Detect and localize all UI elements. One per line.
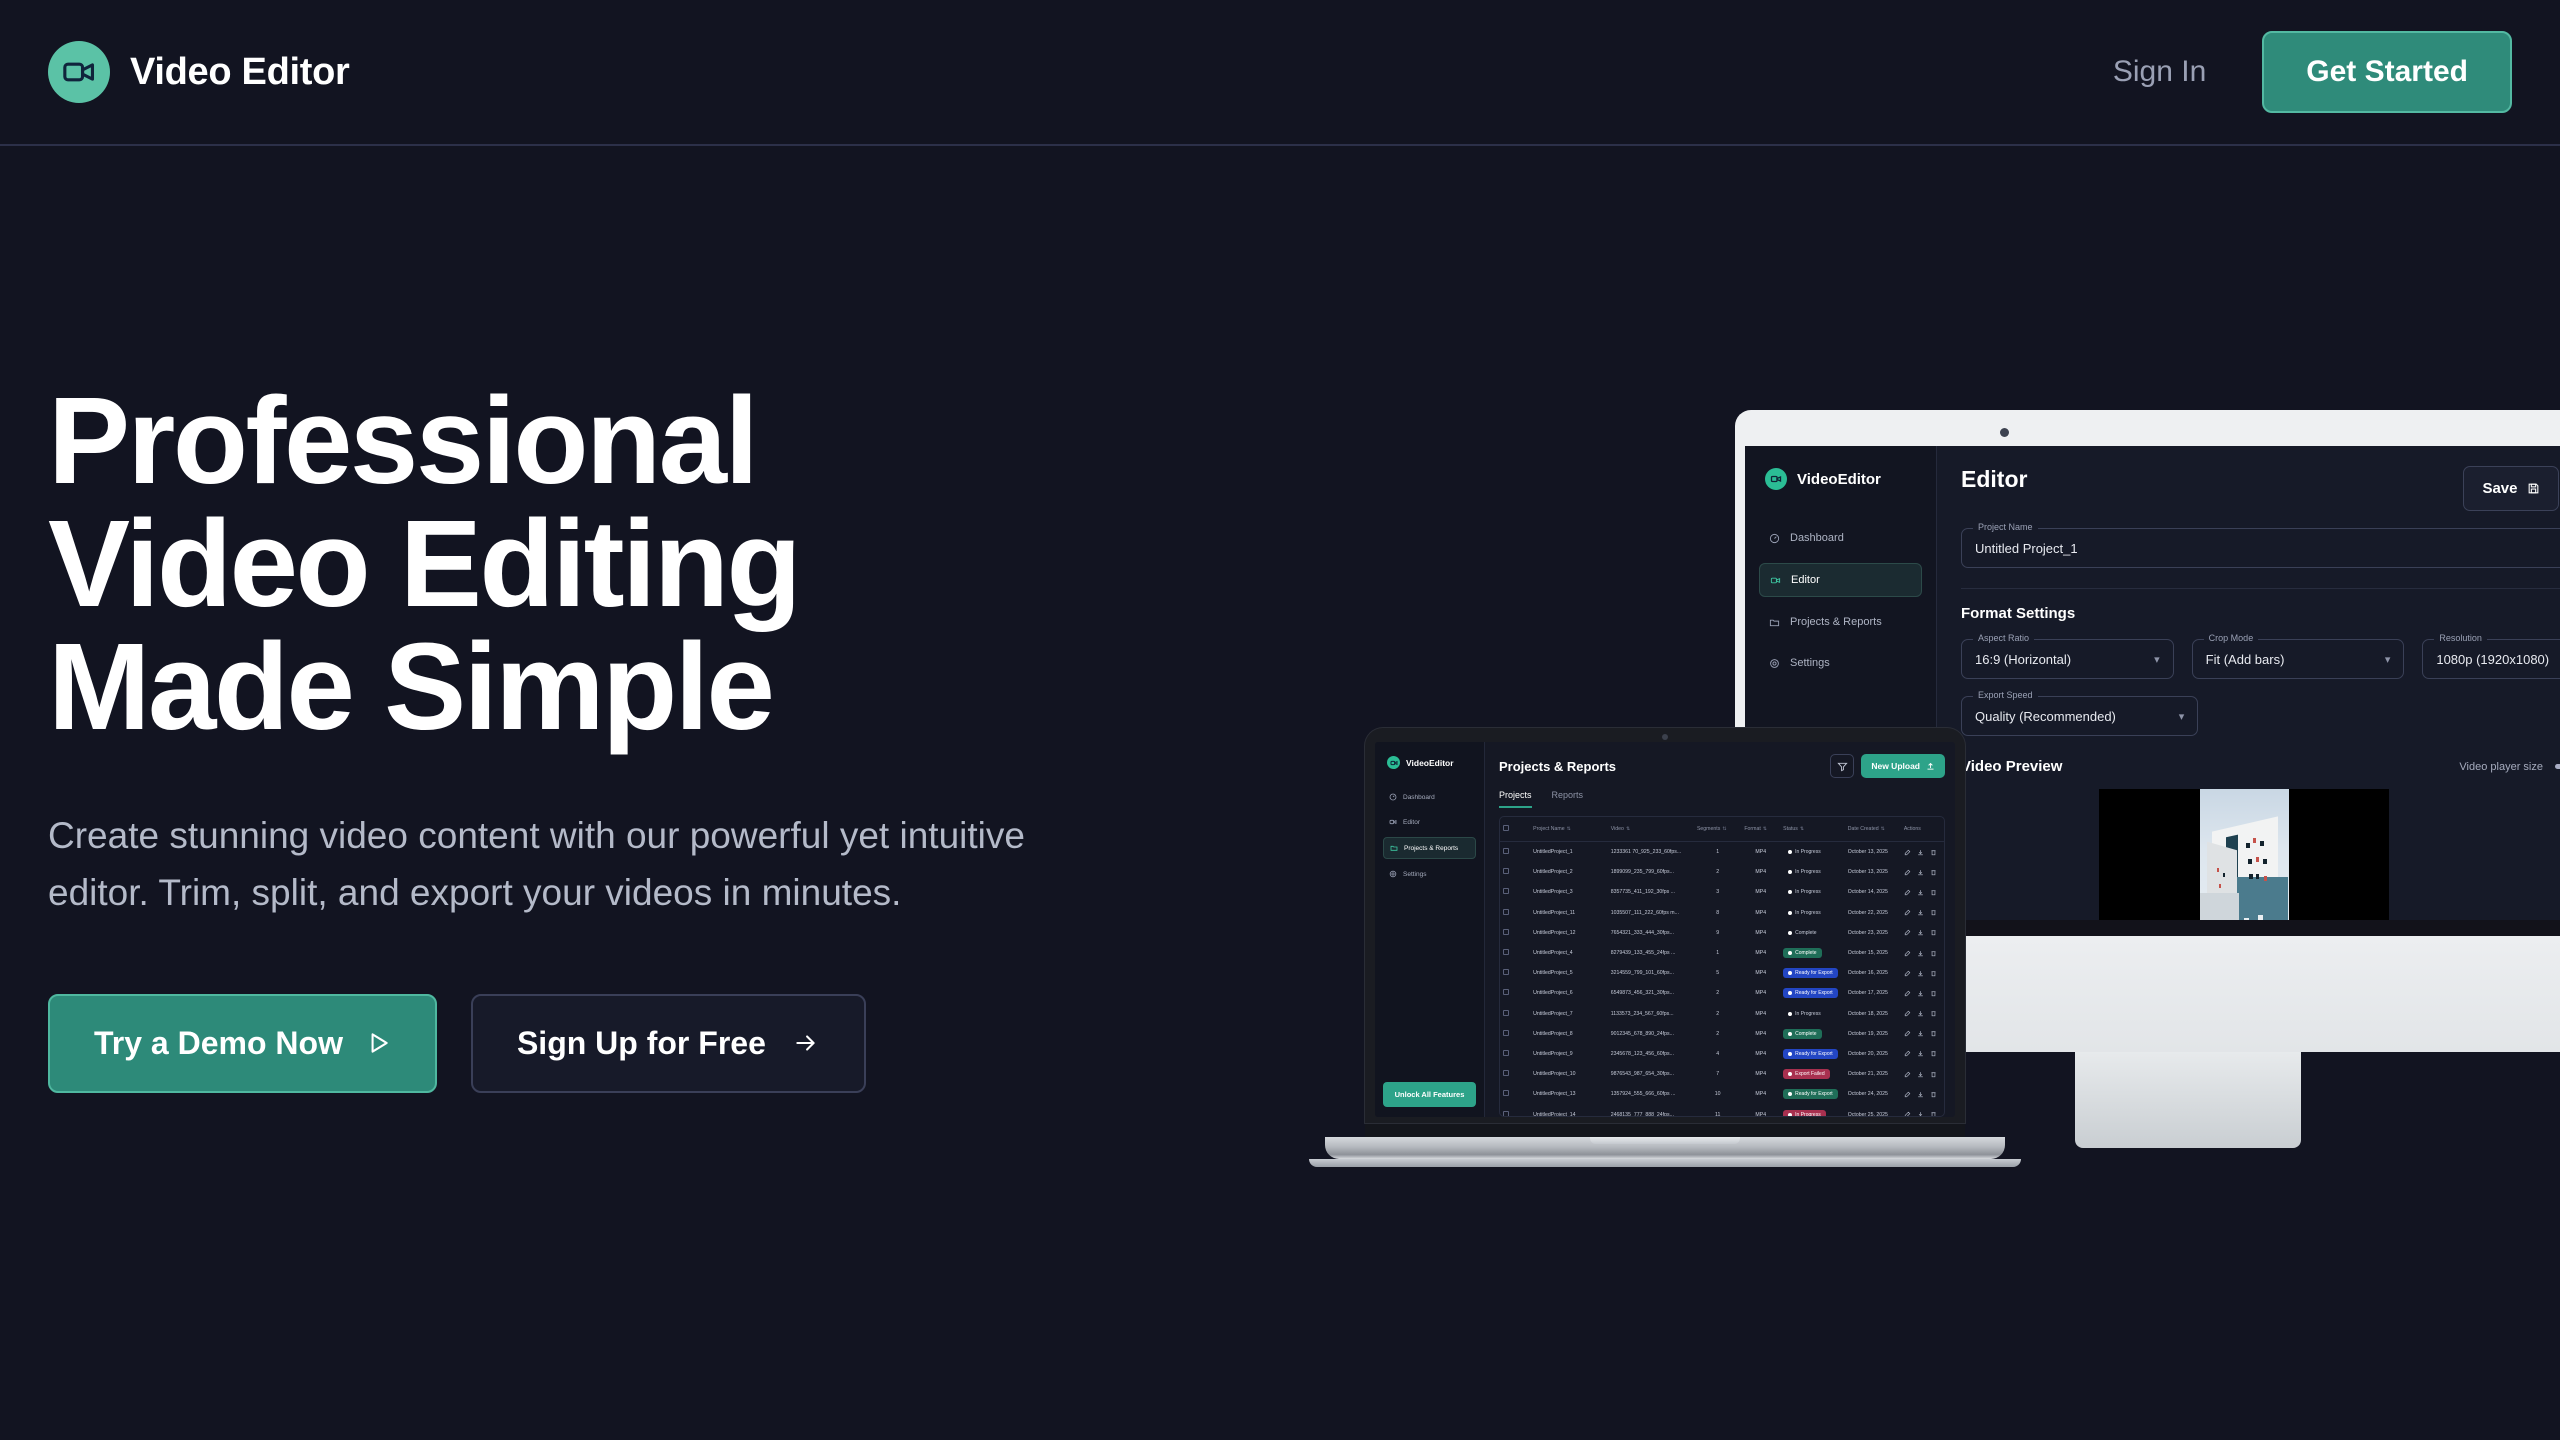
sign-up-free-button[interactable]: Sign Up for Free [471, 994, 866, 1093]
cell-actions [1901, 1004, 1944, 1024]
cell-format: MP4 [1741, 862, 1780, 882]
cell-video: 7654321_333_444_30fps... [1608, 923, 1694, 943]
col-project-name[interactable]: Project Name⇅ [1530, 817, 1608, 842]
cell-project-name: UntitledProject_5 [1530, 963, 1608, 983]
delete-icon[interactable] [1930, 1010, 1938, 1018]
cell-project-name: UntitledProject_4 [1530, 943, 1608, 963]
table-row[interactable]: UntitledProject_127654321_333_444_30fps.… [1500, 923, 1944, 943]
cell-status: In Progress [1780, 1104, 1845, 1117]
projects-table: Project Name⇅ Video⇅ Segments⇅ Format⇅ S… [1500, 817, 1944, 1117]
laptop-sidebar: VideoEditor Dashboard Editor [1375, 742, 1485, 1117]
status-badge: In Progress [1783, 847, 1826, 857]
cell-project-name: UntitledProject_12 [1530, 923, 1608, 943]
video-icon [1770, 575, 1781, 586]
cell-segments: 8 [1694, 903, 1741, 923]
status-label: Complete [1795, 950, 1816, 956]
resolution-select[interactable]: Resolution 1080p (1920x1080) ▾ [2422, 639, 2560, 679]
sidebar-label: Dashboard [1790, 532, 1844, 544]
laptop-trackpad-notch [1590, 1137, 1740, 1144]
cell-status: Ready for Export [1780, 963, 1845, 983]
sidebar-item-projects-reports[interactable]: Projects & Reports [1383, 837, 1476, 859]
brand-logo[interactable]: Video Editor [48, 41, 350, 103]
status-badge: Ready for Export [1783, 968, 1838, 978]
laptop-mockup: VideoEditor Dashboard Editor [1365, 728, 2021, 1167]
crop-mode-label: Crop Mode [2204, 633, 2259, 643]
row-checkbox[interactable] [1500, 862, 1530, 882]
row-checkbox[interactable] [1500, 1044, 1530, 1064]
delete-icon[interactable] [1930, 848, 1938, 856]
cell-video: 8279439_133_455_24fps ... [1608, 943, 1694, 963]
status-label: Ready for Export [1795, 1091, 1833, 1097]
download-icon[interactable] [1917, 989, 1925, 997]
monitor-page-title: Editor [1961, 466, 2027, 493]
cell-date-created: October 15, 2025 [1845, 943, 1901, 963]
cell-project-name: UntitledProject_1 [1530, 842, 1608, 863]
sort-icon: ⇅ [1763, 826, 1767, 832]
hero-subtext: Create stunning video content with our p… [48, 807, 1128, 922]
table-row[interactable]: UntitledProject_131357924_555_666_60fps … [1500, 1084, 1944, 1104]
cell-status: In Progress [1780, 1004, 1845, 1024]
cell-format: MP4 [1741, 1104, 1780, 1117]
aspect-ratio-value: 16:9 (Horizontal) [1975, 652, 2071, 667]
status-label: Complete [1795, 1031, 1816, 1037]
cell-video: 6549873_456_321_30fps... [1608, 983, 1694, 1003]
status-label: Ready for Export [1795, 1051, 1833, 1057]
hero-cta-group: Try a Demo Now Sign Up for Free [48, 994, 1168, 1093]
delete-icon[interactable] [1930, 929, 1938, 937]
checkbox-icon[interactable] [1503, 909, 1509, 915]
tab-projects[interactable]: Projects [1499, 790, 1532, 808]
table-row[interactable]: UntitledProject_71133573_234_567_60fps..… [1500, 1004, 1944, 1024]
unlock-all-features-button[interactable]: Unlock All Features [1383, 1082, 1476, 1107]
checkbox-icon[interactable] [1503, 888, 1509, 894]
delete-icon[interactable] [1930, 1090, 1938, 1098]
preview-thumbnail [2200, 789, 2289, 920]
cell-segments: 4 [1694, 1044, 1741, 1064]
cell-status: Export Failed [1780, 1064, 1845, 1084]
export-speed-row: Export Speed Quality (Recommended) ▾ [1961, 679, 2560, 736]
col-actions: Actions [1901, 817, 1944, 842]
status-label: In Progress [1795, 849, 1821, 855]
projects-table-body: UntitledProject_11233361 70_925_233_60fp… [1500, 842, 1944, 1118]
cell-status: In Progress [1780, 842, 1845, 863]
cell-date-created: October 23, 2025 [1845, 923, 1901, 943]
status-badge: In Progress [1783, 1009, 1826, 1019]
new-upload-label: New Upload [1871, 761, 1920, 771]
sidebar-item-dashboard[interactable]: Dashboard [1759, 522, 1922, 554]
edit-icon[interactable] [1904, 1070, 1912, 1078]
cell-format: MP4 [1741, 1084, 1780, 1104]
player-size-slider[interactable]: Video player size [2459, 761, 2560, 773]
delete-icon[interactable] [1930, 949, 1938, 957]
table-row[interactable]: UntitledProject_142468135_777_888_24fps.… [1500, 1104, 1944, 1117]
sidebar-item-projects-reports[interactable]: Projects & Reports [1759, 606, 1922, 638]
cell-video: 9876543_987_654_30fps... [1608, 1064, 1694, 1084]
col-format[interactable]: Format⇅ [1741, 817, 1780, 842]
cell-segments: 3 [1694, 882, 1741, 902]
delete-icon[interactable] [1930, 1111, 1938, 1117]
try-demo-label: Try a Demo Now [94, 1025, 343, 1062]
page-title: Professional Video Editing Made Simple [48, 380, 1168, 749]
cell-actions [1901, 862, 1944, 882]
laptop-main-panel: Projects & Reports New Upload [1485, 742, 1955, 1117]
edit-icon[interactable] [1904, 929, 1912, 937]
laptop-tabs: Projects Reports [1499, 790, 1945, 808]
cell-status: Ready for Export [1780, 1084, 1845, 1104]
monitor-stand [2075, 1052, 2301, 1148]
cell-format: MP4 [1741, 963, 1780, 983]
heading-line-1: Professional [48, 380, 1168, 503]
cell-segments: 2 [1694, 862, 1741, 882]
download-icon[interactable] [1917, 1090, 1925, 1098]
status-label: In Progress [1795, 889, 1821, 895]
edit-icon[interactable] [1904, 848, 1912, 856]
col-date-created[interactable]: Date Created⇅ [1845, 817, 1901, 842]
table-row[interactable]: UntitledProject_11233361 70_925_233_60fp… [1500, 842, 1944, 863]
edit-icon[interactable] [1904, 1050, 1912, 1058]
resolution-label: Resolution [2434, 633, 2487, 643]
checkbox-icon[interactable] [1503, 1030, 1509, 1036]
checkbox-icon[interactable] [1503, 969, 1509, 975]
row-checkbox[interactable] [1500, 983, 1530, 1003]
cell-actions [1901, 1024, 1944, 1044]
try-demo-button[interactable]: Try a Demo Now [48, 994, 437, 1093]
row-checkbox[interactable] [1500, 1024, 1530, 1044]
laptop-lid: VideoEditor Dashboard Editor [1365, 728, 1965, 1123]
edit-icon[interactable] [1904, 949, 1912, 957]
checkbox-icon[interactable] [1503, 1090, 1509, 1096]
laptop-hinge [1365, 1123, 1965, 1137]
chevron-down-icon: ▾ [2154, 653, 2160, 666]
laptop-base [1325, 1137, 2005, 1159]
download-icon[interactable] [1917, 868, 1925, 876]
edit-icon[interactable] [1904, 1010, 1912, 1018]
video-camera-icon [1387, 756, 1400, 769]
checkbox-icon[interactable] [1503, 1111, 1509, 1117]
cell-project-name: UntitledProject_11 [1530, 903, 1608, 923]
table-row[interactable]: UntitledProject_92345678_123_456_60fps..… [1500, 1044, 1944, 1064]
checkbox-icon[interactable] [1503, 1050, 1509, 1056]
laptop-topbar: Projects & Reports New Upload [1499, 754, 1945, 778]
format-settings-title: Format Settings [1961, 605, 2560, 622]
cell-format: MP4 [1741, 1044, 1780, 1064]
sidebar-item-settings[interactable]: Settings [1383, 864, 1476, 884]
download-icon[interactable] [1917, 1030, 1925, 1038]
cell-video: 1357924_555_666_60fps ... [1608, 1084, 1694, 1104]
monitor-brand-name: VideoEditor [1797, 471, 1881, 488]
cell-format: MP4 [1741, 943, 1780, 963]
sidebar-label: Projects & Reports [1404, 845, 1458, 852]
aspect-ratio-select[interactable]: Aspect Ratio 16:9 (Horizontal) ▾ [1961, 639, 2174, 679]
cell-video: 8357735_411_192_30fps ... [1608, 882, 1694, 902]
sort-icon: ⇅ [1881, 826, 1885, 832]
video-camera-icon [1765, 468, 1787, 490]
status-label: Ready for Export [1795, 990, 1833, 996]
sidebar-label: Settings [1403, 871, 1427, 878]
cell-date-created: October 22, 2025 [1845, 903, 1901, 923]
sidebar-label: Dashboard [1403, 794, 1435, 801]
status-badge: In Progress [1783, 867, 1826, 877]
sidebar-item-editor[interactable]: Editor [1759, 563, 1922, 597]
cell-segments: 2 [1694, 1024, 1741, 1044]
checkbox-icon[interactable] [1503, 949, 1509, 955]
laptop-page-title: Projects & Reports [1499, 759, 1616, 774]
cell-format: MP4 [1741, 903, 1780, 923]
laptop-top-buttons: New Upload [1830, 754, 1945, 778]
sign-in-button[interactable]: Sign In [2113, 55, 2206, 89]
download-icon[interactable] [1917, 1050, 1925, 1058]
download-icon[interactable] [1917, 888, 1925, 896]
cell-status: Complete [1780, 1024, 1845, 1044]
cell-status: Ready for Export [1780, 1044, 1845, 1064]
status-label: In Progress [1795, 1112, 1821, 1117]
arrow-right-icon [792, 1030, 820, 1056]
laptop-brand: VideoEditor [1383, 756, 1476, 769]
cell-segments: 1 [1694, 842, 1741, 863]
download-icon[interactable] [1917, 949, 1925, 957]
cell-format: MP4 [1741, 923, 1780, 943]
upload-icon [1926, 762, 1935, 771]
cell-format: MP4 [1741, 1024, 1780, 1044]
row-checkbox[interactable] [1500, 903, 1530, 923]
cell-project-name: UntitledProject_3 [1530, 882, 1608, 902]
cell-segments: 5 [1694, 963, 1741, 983]
edit-icon[interactable] [1904, 888, 1912, 896]
checkbox-icon[interactable] [1503, 929, 1509, 935]
cell-actions [1901, 903, 1944, 923]
monitor-main-panel: Editor Save Exp [1937, 446, 2560, 920]
gear-icon [1769, 658, 1780, 669]
laptop-app-window: VideoEditor Dashboard Editor [1375, 742, 1955, 1117]
delete-icon[interactable] [1930, 909, 1938, 917]
cell-format: MP4 [1741, 882, 1780, 902]
cell-status: In Progress [1780, 903, 1845, 923]
video-preview-stage[interactable] [2099, 789, 2389, 920]
slider-track[interactable] [2555, 764, 2560, 769]
delete-icon[interactable] [1930, 1070, 1938, 1078]
video-icon [1389, 818, 1397, 826]
chevron-down-icon: ▾ [2179, 710, 2185, 723]
cell-status: Complete [1780, 923, 1845, 943]
checkbox-icon[interactable] [1503, 989, 1509, 995]
cell-status: Complete [1780, 943, 1845, 963]
crop-mode-select[interactable]: Crop Mode Fit (Add bars) ▾ [2192, 639, 2405, 679]
format-field-row: Aspect Ratio 16:9 (Horizontal) ▾ Crop Mo… [1961, 622, 2560, 679]
sidebar-label: Editor [1791, 574, 1820, 586]
edit-icon[interactable] [1904, 1111, 1912, 1117]
edit-icon[interactable] [1904, 989, 1912, 997]
cell-video: 1035507_111_222_60fps m... [1608, 903, 1694, 923]
cell-actions [1901, 1064, 1944, 1084]
row-checkbox[interactable] [1500, 1004, 1530, 1024]
status-label: In Progress [1795, 910, 1821, 916]
resolution-value: 1080p (1920x1080) [2436, 652, 2549, 667]
download-icon[interactable] [1917, 848, 1925, 856]
cell-project-name: UntitledProject_7 [1530, 1004, 1608, 1024]
delete-icon[interactable] [1930, 989, 1938, 997]
cell-project-name: UntitledProject_6 [1530, 983, 1608, 1003]
cell-project-name: UntitledProject_10 [1530, 1064, 1608, 1084]
cell-actions [1901, 1104, 1944, 1117]
table-row[interactable]: UntitledProject_89012345_678_890_24fps..… [1500, 1024, 1944, 1044]
cell-actions [1901, 882, 1944, 902]
folder-icon [1390, 844, 1398, 852]
export-speed-value: Quality (Recommended) [1975, 709, 2116, 724]
cell-date-created: October 17, 2025 [1845, 983, 1901, 1003]
status-badge: Ready for Export [1783, 1049, 1838, 1059]
row-checkbox[interactable] [1500, 842, 1530, 863]
project-name-field[interactable]: Project Name Untitled Project_1 [1961, 528, 2560, 568]
status-badge: Ready for Export [1783, 1089, 1838, 1099]
status-badge: In Progress [1783, 887, 1826, 897]
monitor-camera-icon [2000, 428, 2009, 437]
hero-subtext-line-1: Create stunning video content with our p… [48, 807, 1128, 864]
table-row[interactable]: UntitledProject_111035507_111_222_60fps … [1500, 903, 1944, 923]
save-button[interactable]: Save [2463, 466, 2559, 511]
status-badge: In Progress [1783, 1110, 1826, 1117]
monitor-brand: VideoEditor [1759, 468, 1922, 490]
project-name-label: Project Name [1973, 522, 2038, 532]
projects-table-wrapper: Project Name⇅ Video⇅ Segments⇅ Format⇅ S… [1499, 816, 1945, 1117]
crop-mode-value: Fit (Add bars) [2206, 652, 2285, 667]
checkbox-icon[interactable] [1503, 848, 1509, 854]
sidebar-label: Editor [1403, 819, 1420, 826]
col-status[interactable]: Status⇅ [1780, 817, 1845, 842]
sidebar-item-editor[interactable]: Editor [1383, 812, 1476, 832]
project-name-value: Untitled Project_1 [1975, 541, 2078, 556]
new-upload-button[interactable]: New Upload [1861, 754, 1945, 778]
cell-video: 1133573_234_567_60fps... [1608, 1004, 1694, 1024]
download-icon[interactable] [1917, 1111, 1925, 1117]
cell-status: In Progress [1780, 862, 1845, 882]
status-label: Complete [1795, 930, 1816, 936]
table-row[interactable]: UntitledProject_21899099_235_799_60fps..… [1500, 862, 1944, 882]
hero-subtext-line-2: editor. Trim, split, and export your vid… [48, 864, 1128, 921]
sort-icon: ⇅ [1722, 826, 1726, 832]
cell-format: MP4 [1741, 842, 1780, 863]
status-badge: In Progress [1783, 908, 1826, 918]
cell-actions [1901, 943, 1944, 963]
checkbox-icon[interactable] [1503, 1010, 1509, 1016]
landing-page: Video Editor Sign In Get Started Profess… [0, 0, 2560, 1440]
col-segments[interactable]: Segments⇅ [1694, 817, 1741, 842]
delete-icon[interactable] [1930, 888, 1938, 896]
cell-video: 2345678_123_456_60fps... [1608, 1044, 1694, 1064]
row-checkbox[interactable] [1500, 963, 1530, 983]
sidebar-item-dashboard[interactable]: Dashboard [1383, 787, 1476, 807]
get-started-button[interactable]: Get Started [2262, 31, 2512, 113]
row-checkbox[interactable] [1500, 1104, 1530, 1117]
download-icon[interactable] [1917, 929, 1925, 937]
cell-segments: 11 [1694, 1104, 1741, 1117]
table-row[interactable]: UntitledProject_53214559_799_101_60fps..… [1500, 963, 1944, 983]
table-row[interactable]: UntitledProject_109876543_987_654_30fps.… [1500, 1064, 1944, 1084]
cell-project-name: UntitledProject_9 [1530, 1044, 1608, 1064]
cell-segments: 9 [1694, 923, 1741, 943]
delete-icon[interactable] [1930, 868, 1938, 876]
table-row[interactable]: UntitledProject_66549873_456_321_30fps..… [1500, 983, 1944, 1003]
table-row[interactable]: UntitledProject_38357735_411_192_30fps .… [1500, 882, 1944, 902]
heading-line-3: Made Simple [48, 626, 1168, 749]
col-video[interactable]: Video⇅ [1608, 817, 1694, 842]
table-row[interactable]: UntitledProject_48279439_133_455_24fps .… [1500, 943, 1944, 963]
player-size-label: Video player size [2459, 761, 2543, 773]
sort-icon: ⇅ [1800, 826, 1804, 832]
sign-up-free-label: Sign Up for Free [517, 1025, 766, 1062]
video-preview-header: Video Preview Video player size [1961, 758, 2560, 775]
edit-icon[interactable] [1904, 868, 1912, 876]
row-checkbox[interactable] [1500, 882, 1530, 902]
download-icon[interactable] [1917, 909, 1925, 917]
funnel-icon[interactable] [1830, 754, 1854, 778]
col-select[interactable] [1500, 817, 1530, 842]
edit-icon[interactable] [1904, 969, 1912, 977]
tab-reports[interactable]: Reports [1552, 790, 1584, 808]
monitor-topbar: Editor Save Exp [1961, 466, 2560, 511]
cell-actions [1901, 983, 1944, 1003]
cell-video: 1899099_235_799_60fps... [1608, 862, 1694, 882]
checkbox-icon[interactable] [1503, 868, 1509, 874]
cell-date-created: October 21, 2025 [1845, 1064, 1901, 1084]
divider [1961, 588, 2560, 589]
dashboard-icon [1389, 793, 1397, 801]
hero-section: Professional Video Editing Made Simple C… [48, 380, 1168, 1093]
save-label: Save [2482, 480, 2517, 497]
dashboard-icon [1769, 533, 1780, 544]
delete-icon[interactable] [1930, 1050, 1938, 1058]
row-checkbox[interactable] [1500, 1064, 1530, 1084]
cell-status: Ready for Export [1780, 983, 1845, 1003]
edit-icon[interactable] [1904, 909, 1912, 917]
status-badge: Complete [1783, 928, 1821, 938]
cell-video: 9012345_678_890_24fps... [1608, 1024, 1694, 1044]
checkbox-icon[interactable] [1503, 1070, 1509, 1076]
edit-icon[interactable] [1904, 1030, 1912, 1038]
cell-date-created: October 14, 2025 [1845, 882, 1901, 902]
cell-segments: 10 [1694, 1084, 1741, 1104]
download-icon[interactable] [1917, 1010, 1925, 1018]
row-checkbox[interactable] [1500, 923, 1530, 943]
heading-line-2: Video Editing [48, 503, 1168, 626]
delete-icon[interactable] [1930, 1030, 1938, 1038]
cell-video: 3214559_799_101_60fps... [1608, 963, 1694, 983]
edit-icon[interactable] [1904, 1090, 1912, 1098]
delete-icon[interactable] [1930, 969, 1938, 977]
cell-date-created: October 25, 2025 [1845, 1104, 1901, 1117]
row-checkbox[interactable] [1500, 1084, 1530, 1104]
sidebar-label: Projects & Reports [1790, 616, 1882, 628]
download-icon[interactable] [1917, 1070, 1925, 1078]
cell-date-created: October 13, 2025 [1845, 842, 1901, 863]
cell-date-created: October 19, 2025 [1845, 1024, 1901, 1044]
checkbox-icon[interactable] [1503, 825, 1509, 831]
sidebar-label: Settings [1790, 657, 1830, 669]
cell-project-name: UntitledProject_13 [1530, 1084, 1608, 1104]
cell-actions [1901, 842, 1944, 863]
video-camera-icon [48, 41, 110, 103]
cell-segments: 7 [1694, 1064, 1741, 1084]
header-actions: Sign In Get Started [2113, 31, 2512, 113]
aspect-ratio-label: Aspect Ratio [1973, 633, 2034, 643]
row-checkbox[interactable] [1500, 943, 1530, 963]
status-badge: Ready for Export [1783, 988, 1838, 998]
status-label: In Progress [1795, 1011, 1821, 1017]
site-header: Video Editor Sign In Get Started [0, 0, 2560, 146]
sidebar-item-settings[interactable]: Settings [1759, 647, 1922, 679]
cell-actions [1901, 1084, 1944, 1104]
download-icon[interactable] [1917, 969, 1925, 977]
cell-date-created: October 18, 2025 [1845, 1004, 1901, 1024]
